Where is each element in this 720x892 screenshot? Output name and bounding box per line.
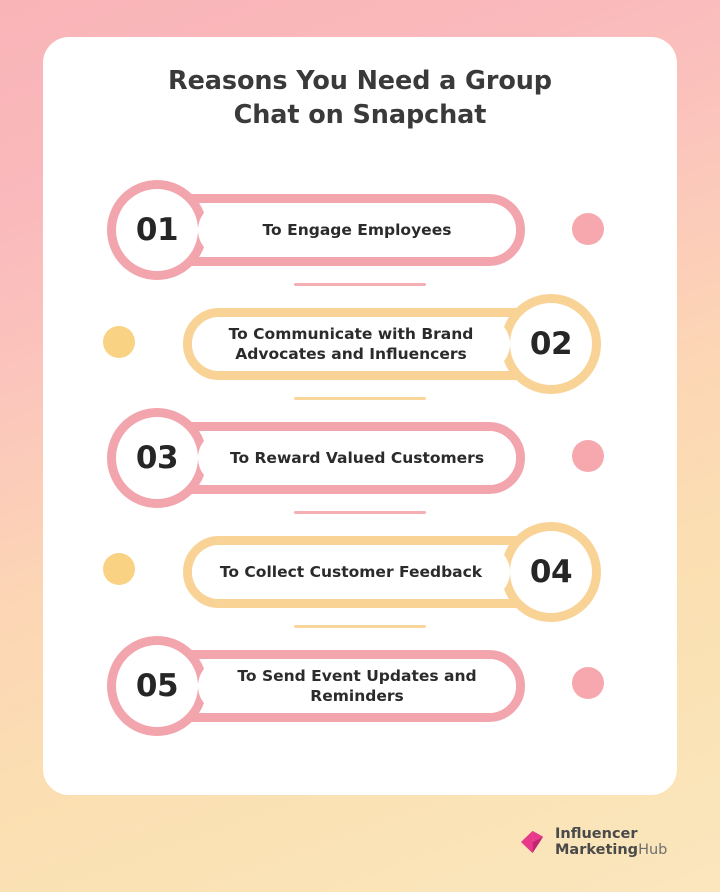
list-item-label: To Communicate with Brand Advocates and … — [192, 324, 510, 365]
item-label-pill: To Engage Employees — [198, 203, 516, 257]
page-title-line2: Chat on Snapchat — [43, 99, 677, 133]
brand-logo-line2: MarketingHub — [555, 843, 667, 859]
list-item-label: To Send Event Updates and Reminders — [198, 666, 516, 707]
brand-logo-line1: Influencer — [555, 827, 667, 843]
list-item-number: 03 — [107, 408, 207, 508]
page-title-line1: Reasons You Need a Group — [43, 65, 677, 99]
influencer-arrow-icon — [521, 829, 548, 856]
list-item-label: To Engage Employees — [253, 220, 462, 240]
dot-pink-right-2 — [572, 440, 604, 472]
dot-amber-left-2 — [103, 553, 135, 585]
list-item[interactable]: To Send Event Updates and Reminders 05 — [107, 636, 525, 736]
divider-2 — [294, 397, 426, 400]
dot-amber-left-1 — [103, 326, 135, 358]
list-item-number: 04 — [501, 522, 601, 622]
list-item-label: To Collect Customer Feedback — [210, 562, 492, 582]
content-card: Reasons You Need a Group Chat on Snapcha… — [43, 37, 677, 795]
list-item-label: To Reward Valued Customers — [220, 448, 494, 468]
list-item[interactable]: To Engage Employees 01 — [107, 180, 525, 280]
brand-logo-marketing: Marketing — [555, 842, 638, 858]
item-label-pill: To Send Event Updates and Reminders — [198, 659, 516, 713]
divider-3 — [294, 511, 426, 514]
list-item-number: 05 — [107, 636, 207, 736]
list-item[interactable]: To Reward Valued Customers 03 — [107, 408, 525, 508]
infographic-poster: Reasons You Need a Group Chat on Snapcha… — [0, 0, 720, 892]
item-label-pill: To Reward Valued Customers — [198, 431, 516, 485]
item-label-pill: To Collect Customer Feedback — [192, 545, 510, 599]
brand-logo-hub: Hub — [638, 842, 667, 858]
page-title: Reasons You Need a Group Chat on Snapcha… — [43, 65, 677, 132]
list-item[interactable]: To Communicate with Brand Advocates and … — [183, 294, 601, 394]
list-item-number: 02 — [501, 294, 601, 394]
dot-pink-right-1 — [572, 213, 604, 245]
item-label-pill: To Communicate with Brand Advocates and … — [192, 317, 510, 371]
brand-logo-text: Influencer MarketingHub — [555, 827, 667, 858]
divider-4 — [294, 625, 426, 628]
divider-1 — [294, 283, 426, 286]
list-item[interactable]: To Collect Customer Feedback 04 — [183, 522, 601, 622]
dot-pink-right-3 — [572, 667, 604, 699]
brand-logo[interactable]: Influencer MarketingHub — [521, 827, 667, 858]
list-item-number: 01 — [107, 180, 207, 280]
